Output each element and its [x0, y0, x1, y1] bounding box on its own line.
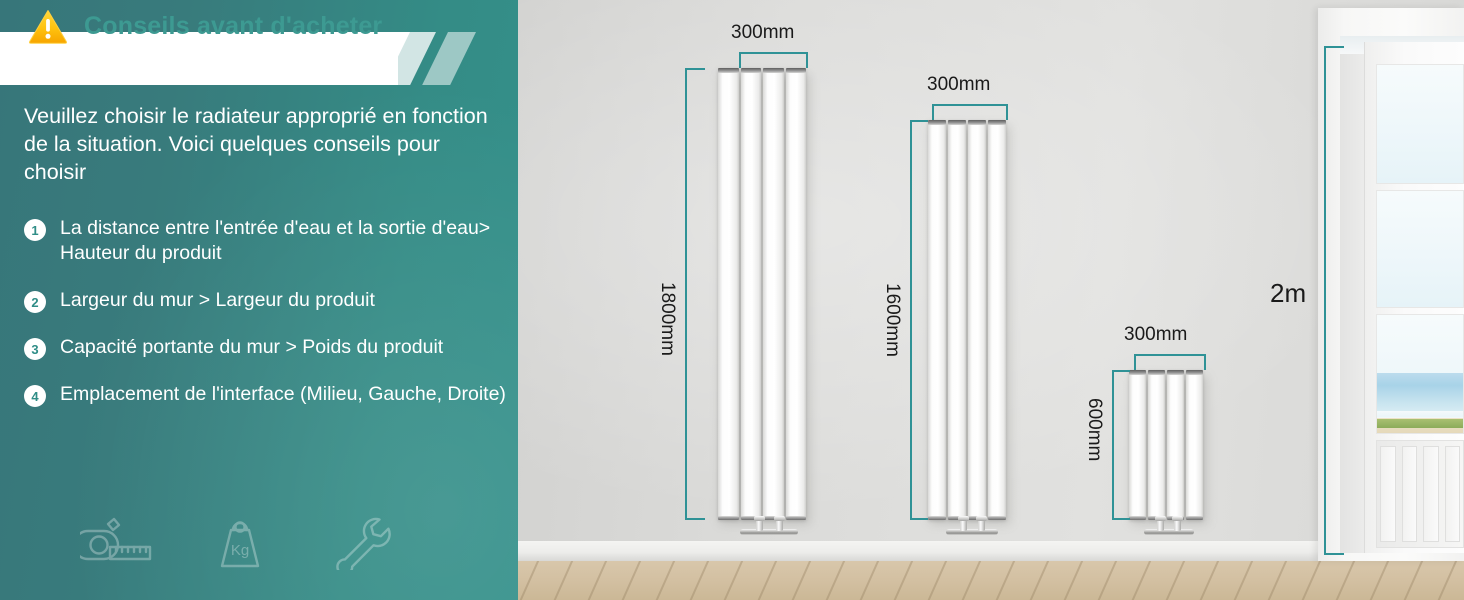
sky [1377, 191, 1463, 307]
radiator-fins [718, 68, 806, 520]
floor-plank [1087, 561, 1125, 600]
valve-cap [1155, 516, 1166, 521]
door-pane-bottom [1376, 314, 1464, 434]
list-item: 3 Capacité portante du mur > Poids du pr… [24, 335, 514, 360]
intro-text: Veuillez choisir le radiateur approprié … [24, 102, 500, 186]
door-panel [1423, 446, 1439, 542]
radiator-1600 [928, 120, 1006, 520]
floor-plank [1019, 561, 1057, 600]
radiator-1600-valve [946, 517, 998, 539]
sky [1377, 65, 1463, 183]
radiator-fin [763, 68, 784, 520]
radiator-fin [1167, 370, 1184, 520]
door-panel [1380, 446, 1396, 542]
door-pane-middle [1376, 190, 1464, 308]
valve-bar [1144, 529, 1194, 535]
door-panel [1402, 446, 1418, 542]
list-item-label: Emplacement de l'interface (Milieu, Gauc… [60, 382, 506, 407]
floor-plank [747, 561, 785, 600]
dim-width-1800 [739, 52, 808, 68]
floor-plank [577, 561, 615, 600]
radiator-1800 [718, 68, 806, 520]
floor-plank [1223, 561, 1261, 600]
valve-cap [976, 516, 987, 521]
radiator-fin [786, 68, 807, 520]
radiator-fin [968, 120, 986, 520]
list-item-number: 1 [24, 219, 46, 241]
floor-plank [1393, 561, 1431, 600]
floor-plank [645, 561, 683, 600]
floor-plank [1257, 561, 1295, 600]
radiator-600-valve [1144, 517, 1194, 539]
radiator-fin [1186, 370, 1203, 520]
floor-plank [1359, 561, 1397, 600]
list-item-label: Largeur du mur > Largeur du produit [60, 288, 375, 313]
tape-measure-icon [60, 517, 180, 569]
list-item-number: 2 [24, 291, 46, 313]
dim-height-1600 [910, 120, 928, 520]
dim-width-1600 [932, 104, 1008, 120]
floor-plank [985, 561, 1023, 600]
wood-floor [518, 561, 1464, 600]
floor-plank [518, 561, 548, 600]
dim-width-label-1800: 300mm [731, 22, 794, 44]
floor-plank [1427, 561, 1464, 600]
dim-height-label-1600: 1600mm [881, 283, 903, 357]
floor-plank [1325, 561, 1363, 600]
floor-plank [815, 561, 853, 600]
radiator-fin [718, 68, 739, 520]
floor-plank [713, 561, 751, 600]
radiator-fin [1148, 370, 1165, 520]
page-title: Conseils avant d'acheter [84, 12, 382, 41]
valve-bar [740, 529, 798, 535]
dim-width-label-600: 300mm [1124, 324, 1187, 346]
grass [1377, 419, 1463, 428]
dim-door-height [1324, 46, 1344, 555]
floor-plank [1121, 561, 1159, 600]
dim-height-label-1800: 1800mm [656, 282, 678, 356]
dim-width-600 [1134, 354, 1206, 370]
radiator-fins [1129, 370, 1203, 520]
floor-plank [781, 561, 819, 600]
dim-width-label-1600: 300mm [927, 74, 990, 96]
floor-plank [679, 561, 717, 600]
list-item: 2 Largeur du mur > Largeur du produit [24, 288, 514, 313]
list-item: 1 La distance entre l'entrée d'eau et la… [24, 216, 514, 266]
valve-cap [958, 516, 969, 521]
radiator-fins [928, 120, 1006, 520]
floor-plank [883, 561, 921, 600]
radiator-1800-valve [740, 517, 798, 539]
radiator-fin [948, 120, 966, 520]
floor-plank [1053, 561, 1091, 600]
warning-triangle-icon [28, 8, 68, 44]
door-panel [1445, 446, 1461, 542]
floor-plank [611, 561, 649, 600]
infographic-root: 300mm 1800mm 300mm 1600mm [0, 0, 1464, 600]
room-scene: 300mm 1800mm 300mm 1600mm [518, 0, 1464, 600]
radiator-600 [1129, 370, 1203, 520]
floor-plank [917, 561, 955, 600]
list-item-number: 3 [24, 338, 46, 360]
radiator-fin [741, 68, 762, 520]
radiator-fin [988, 120, 1006, 520]
list-item-label: Capacité portante du mur > Poids du prod… [60, 335, 443, 360]
tips-panel: Conseils avant d'acheter Veuillez choisi… [0, 0, 518, 600]
door-pane-top [1376, 64, 1464, 184]
list-item: 4 Emplacement de l'interface (Milieu, Ga… [24, 382, 514, 407]
wrench-icon [300, 516, 420, 570]
dim-height-label-600: 600mm [1083, 398, 1105, 461]
footer-icons: Kg [60, 508, 460, 578]
door-lower-panels [1376, 440, 1464, 548]
svg-text:Kg: Kg [231, 542, 249, 559]
floor-plank [1189, 561, 1227, 600]
tips-list: 1 La distance entre l'entrée d'eau et la… [24, 216, 514, 429]
floor-plank [849, 561, 887, 600]
floor-plank [543, 561, 581, 600]
valve-bar [946, 529, 998, 535]
list-item-number: 4 [24, 385, 46, 407]
radiator-fin [928, 120, 946, 520]
list-item-label: La distance entre l'entrée d'eau et la s… [60, 216, 514, 266]
floor-plank [951, 561, 989, 600]
radiator-fin [1129, 370, 1146, 520]
dim-door-height-label: 2m [1270, 278, 1306, 309]
valve-cap [1172, 516, 1183, 521]
floor-plank [1291, 561, 1329, 600]
dim-height-1800 [685, 68, 705, 520]
weight-kg-icon: Kg [180, 517, 300, 569]
dim-height-600 [1112, 370, 1130, 520]
valve-cap [754, 516, 765, 521]
floor-plank [1155, 561, 1193, 600]
valve-cap [774, 516, 785, 521]
